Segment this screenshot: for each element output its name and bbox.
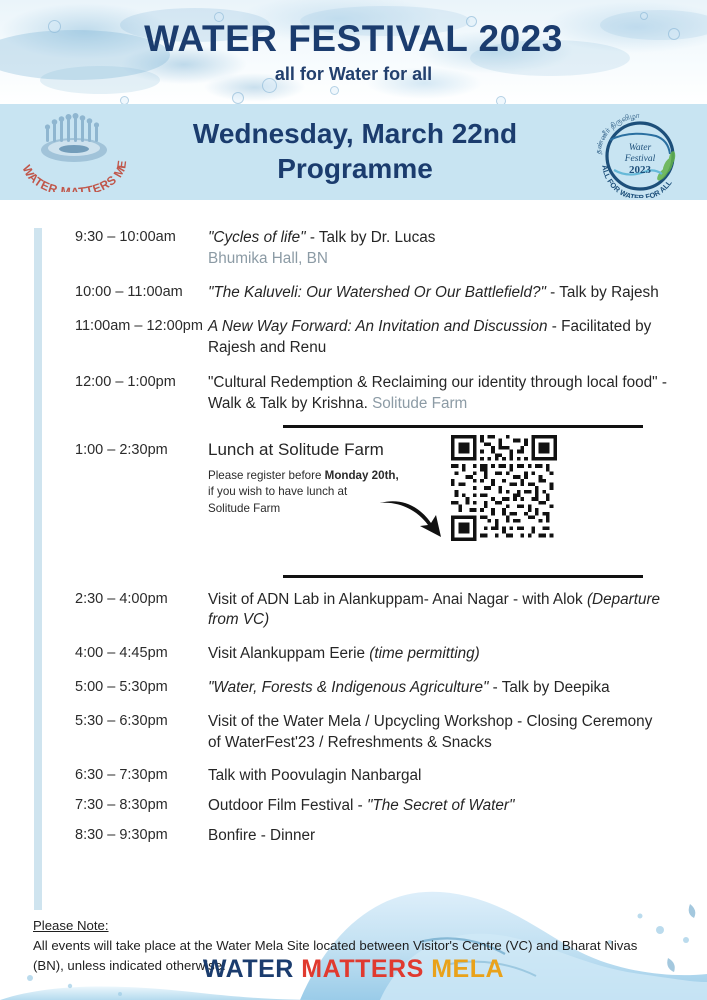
lunch-row: 1:00 – 2:30pm Lunch at Solitude Farm Ple… <box>0 439 707 557</box>
lunch-note-line1-a: Please register before <box>208 469 325 482</box>
lunch-heading-plain: Lunch at <box>208 440 278 459</box>
schedule-row: 4:00 – 4:45pm Visit Alankuppam Eerie (ti… <box>0 644 707 665</box>
schedule-time: 4:00 – 4:45pm <box>0 644 208 663</box>
schedule-description: Bonfire - Dinner <box>208 826 707 847</box>
schedule-description: Talk with Poovulagin Nanbargal <box>208 766 707 787</box>
lunch-venue-highlight: Solitude Farm <box>278 440 384 459</box>
schedule-time: 2:30 – 4:00pm <box>0 590 208 609</box>
water-matters-mela-logo: WATER MATTERS MELA <box>14 112 134 192</box>
schedule-row: 9:30 – 10:00am "Cycles of life" - Talk b… <box>0 228 707 270</box>
brand-word-water: WATER <box>203 955 294 983</box>
brand-word-mela: MELA <box>431 955 504 983</box>
poster: WATER FESTIVAL 2023 all for Water for al… <box>0 0 707 1000</box>
schedule-row: 7:30 – 8:30pm Outdoor Film Festival - "T… <box>0 796 707 817</box>
schedule-row: 11:00am – 12:00pm A New Way Forward: An … <box>0 317 707 359</box>
schedule-row: 12:00 – 1:00pm "Cultural Redemption & Re… <box>0 373 707 415</box>
event-title-rest: - Talk by Rajesh <box>546 284 659 301</box>
schedule-time: 11:00am – 12:00pm <box>0 317 208 336</box>
schedule-time: 12:00 – 1:00pm <box>0 373 208 392</box>
schedule-time: 6:30 – 7:30pm <box>0 766 208 785</box>
footer-brand: WATER MATTERS MELA <box>0 955 707 984</box>
event-title-italic: "Water, Forests & Indigenous Agriculture… <box>208 679 488 696</box>
schedule-time: 8:30 – 9:30pm <box>0 826 208 845</box>
event-title-italic: "Cycles of life" <box>208 229 306 246</box>
event-title-plain: Outdoor Film Festival - <box>208 797 367 814</box>
schedule-description: "Cultural Redemption & Reclaiming our id… <box>208 373 707 415</box>
schedule-time: 7:30 – 8:30pm <box>0 796 208 815</box>
event-title-italic: "The Kaluveli: Our Watershed Or Our Batt… <box>208 284 546 301</box>
event-venue-highlight: Solitude Farm <box>372 395 467 412</box>
schedule-row: 5:30 – 6:30pm Visit of the Water Mela / … <box>0 712 707 754</box>
lunch-body: Lunch at Solitude Farm Please register b… <box>208 439 707 557</box>
schedule-description: Visit Alankuppam Eerie (time permitting) <box>208 644 707 665</box>
schedule-description: A New Way Forward: An Invitation and Dis… <box>208 317 707 359</box>
lunch-note-line3: Solitude Farm <box>208 502 280 515</box>
registration-qr-code[interactable] <box>451 435 557 541</box>
logo-center-line1: Water <box>629 143 652 153</box>
schedule-row: 8:30 – 9:30pm Bonfire - Dinner <box>0 826 707 847</box>
event-title-italic: A New Way Forward: An Invitation and Dis… <box>208 318 548 335</box>
section-divider-top <box>283 425 643 428</box>
schedule-time: 5:30 – 6:30pm <box>0 712 208 731</box>
brand-word-matters: MATTERS <box>301 955 423 983</box>
schedule-row: 2:30 – 4:00pm Visit of ADN Lab in Alanku… <box>0 590 707 632</box>
day-title: Wednesday, March 22nd Programme <box>130 116 580 187</box>
schedule-description: Outdoor Film Festival - "The Secret of W… <box>208 796 707 817</box>
logo-center-line3: 2023 <box>629 164 652 176</box>
event-title-italic-tail: "The Secret of Water" <box>367 797 514 814</box>
event-title-plain: - Talk by Deepika <box>488 679 609 696</box>
schedule-row: 5:00 – 5:30pm "Water, Forests & Indigeno… <box>0 678 707 699</box>
schedule-time: 9:30 – 10:00am <box>0 228 208 247</box>
water-festival-2023-logo: தண்ணீர் திருவிழா ALL FOR WATER FOR ALL W… <box>584 110 696 198</box>
curved-arrow-icon <box>378 499 446 541</box>
footer-note-heading: Please Note: <box>33 916 653 936</box>
schedule-description: "The Kaluveli: Our Watershed Or Our Batt… <box>208 283 707 304</box>
lunch-time: 1:00 – 2:30pm <box>0 439 208 460</box>
lunch-note-deadline: Monday 20th, <box>325 469 399 482</box>
page-title: WATER FESTIVAL 2023 <box>0 18 707 60</box>
schedule-row: 6:30 – 7:30pm Talk with Poovulagin Nanba… <box>0 766 707 787</box>
footer-note-line1: All events will take place at the Water … <box>33 938 532 953</box>
event-title-plain: Visit Alankuppam Eerie <box>208 645 369 662</box>
schedule-description: Visit of ADN Lab in Alankuppam- Anai Nag… <box>208 590 707 632</box>
lunch-note-line2: if you wish to have lunch at <box>208 485 347 498</box>
schedule-list: 9:30 – 10:00am "Cycles of life" - Talk b… <box>0 228 707 847</box>
schedule-row: 10:00 – 11:00am "The Kaluveli: Our Water… <box>0 283 707 304</box>
schedule-description: "Cycles of life" - Talk by Dr. Lucas Bhu… <box>208 228 707 270</box>
schedule-description: "Water, Forests & Indigenous Agriculture… <box>208 678 707 699</box>
event-location: Bhumika Hall, BN <box>208 249 667 270</box>
day-title-line1: Wednesday, March 22nd <box>130 116 580 151</box>
day-title-line2: Programme <box>130 151 580 186</box>
page-subtitle: all for Water for all <box>0 64 707 85</box>
logo-center-line2: Festival <box>624 154 656 164</box>
schedule-time: 10:00 – 11:00am <box>0 283 208 302</box>
event-title-plain: Visit of ADN Lab in Alankuppam- Anai Nag… <box>208 591 587 608</box>
event-title-rest: - Talk by Dr. Lucas <box>306 229 436 246</box>
section-divider-bottom <box>283 575 643 578</box>
schedule-description: Visit of the Water Mela / Upcycling Work… <box>208 712 707 754</box>
event-title-italic-tail: (time permitting) <box>369 645 480 662</box>
schedule-time: 5:00 – 5:30pm <box>0 678 208 697</box>
